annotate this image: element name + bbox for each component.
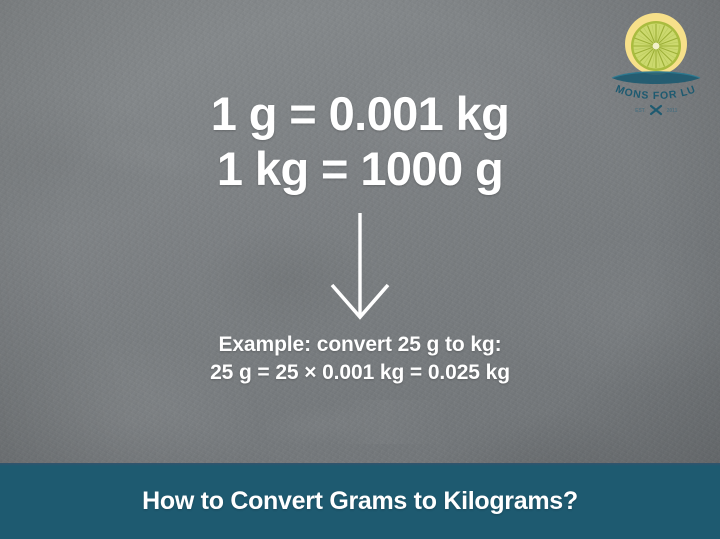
example-line-2: 25 g = 25 × 0.001 kg = 0.025 kg (0, 359, 720, 387)
conversion-equations: 1 g = 0.001 kg 1 kg = 1000 g (0, 86, 720, 196)
slide-canvas: LEMONS FOR LULU EST 2011 1 g = 0.001 kg … (0, 0, 720, 539)
example-block: Example: convert 25 g to kg: 25 g = 25 ×… (0, 331, 720, 387)
title-banner: How to Convert Grams to Kilograms? (0, 463, 720, 539)
down-arrow-icon (325, 210, 395, 325)
equation-line-2: 1 kg = 1000 g (0, 141, 720, 196)
example-line-1: Example: convert 25 g to kg: (0, 331, 720, 359)
down-arrow (325, 210, 395, 325)
banner-top-edge (0, 463, 720, 466)
equation-line-1: 1 g = 0.001 kg (0, 86, 720, 141)
page-title: How to Convert Grams to Kilograms? (142, 487, 578, 516)
